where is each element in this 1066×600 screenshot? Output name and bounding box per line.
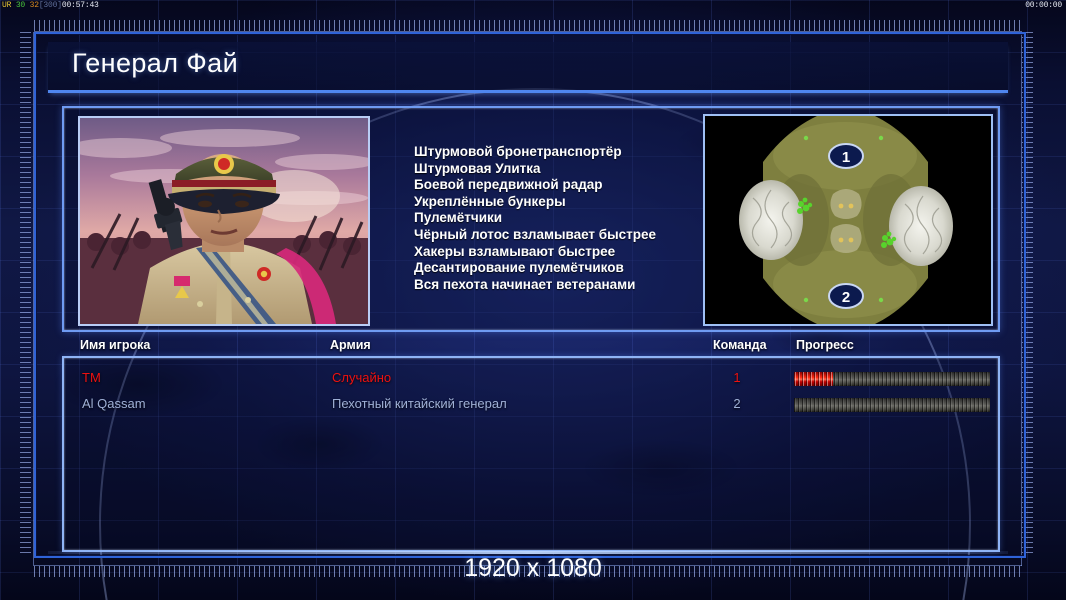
player-progress-bar (794, 372, 990, 386)
hud-value-1: 30 (16, 1, 25, 10)
header-army: Армия (330, 338, 371, 352)
hud-prefix: UR (2, 1, 11, 10)
ruler-top (34, 20, 1022, 31)
hud-clock: 00:57:43 (62, 1, 99, 10)
hud-value-2: 32 (30, 1, 39, 10)
header-player-name: Имя игрока (80, 338, 150, 352)
general-info-panel: Штурмовой бронетранспортёр Штурмовая Ули… (62, 106, 1000, 332)
hud-bracket: [300] (39, 1, 62, 10)
header-progress: Прогресс (796, 338, 854, 352)
progress-ticks (794, 398, 990, 412)
player-army[interactable]: Случайно (332, 370, 391, 385)
ruler-left (20, 32, 31, 554)
svg-text:1: 1 (842, 149, 850, 166)
ability-item: Десантирование пулемётчиков (414, 260, 744, 277)
svg-text:2: 2 (842, 289, 850, 306)
frame-line-left (33, 32, 34, 566)
ability-item: Укреплённые бункеры (414, 194, 744, 211)
ability-item: Пулемётчики (414, 210, 744, 227)
player-army[interactable]: Пехотный китайский генерал (332, 396, 507, 411)
frame-line-right (1021, 32, 1022, 566)
general-portrait (78, 116, 370, 326)
ability-item: Чёрный лотос взламывает быстрее (414, 227, 744, 244)
table-row[interactable]: TM Случайно 1 (64, 366, 998, 392)
resolution-label: 1920 x 1080 (0, 554, 1066, 583)
player-list-panel: TM Случайно 1 Al Qassam Пехотный китайск… (62, 356, 1000, 552)
ability-item: Вся пехота начинает ветеранами (414, 277, 744, 294)
progress-fill (794, 372, 833, 386)
player-name: TM (82, 370, 101, 385)
header-team: Команда (713, 338, 767, 352)
title-panel: Генерал Фай (48, 42, 1008, 93)
frame-line-top (34, 31, 1022, 32)
game-screen: UR 30 32[300]00:57:43 00:00:00 Генерал Ф… (0, 0, 1066, 600)
hud-right-clock: 00:00:00 (1025, 1, 1062, 10)
player-team[interactable]: 2 (730, 396, 744, 411)
table-row[interactable]: Al Qassam Пехотный китайский генерал 2 (64, 392, 998, 418)
player-table-headers: Имя игрока Армия Команда Прогресс (80, 338, 1000, 356)
hud-left-readout: UR 30 32[300]00:57:43 (2, 1, 99, 10)
player-team[interactable]: 1 (730, 370, 744, 385)
ability-item: Штурмовая Улитка (414, 161, 744, 178)
ability-item: Штурмовой бронетранспортёр (414, 144, 744, 161)
ability-item: Боевой передвижной радар (414, 177, 744, 194)
player-progress-bar (794, 398, 990, 412)
player-name: Al Qassam (82, 396, 146, 411)
page-title: Генерал Фай (72, 48, 238, 79)
map-preview[interactable]: 1 2 (703, 114, 993, 326)
ruler-right (1022, 32, 1033, 554)
ability-item: Хакеры взламывают быстрее (414, 244, 744, 261)
abilities-list: Штурмовой бронетранспортёр Штурмовая Ули… (414, 144, 744, 293)
